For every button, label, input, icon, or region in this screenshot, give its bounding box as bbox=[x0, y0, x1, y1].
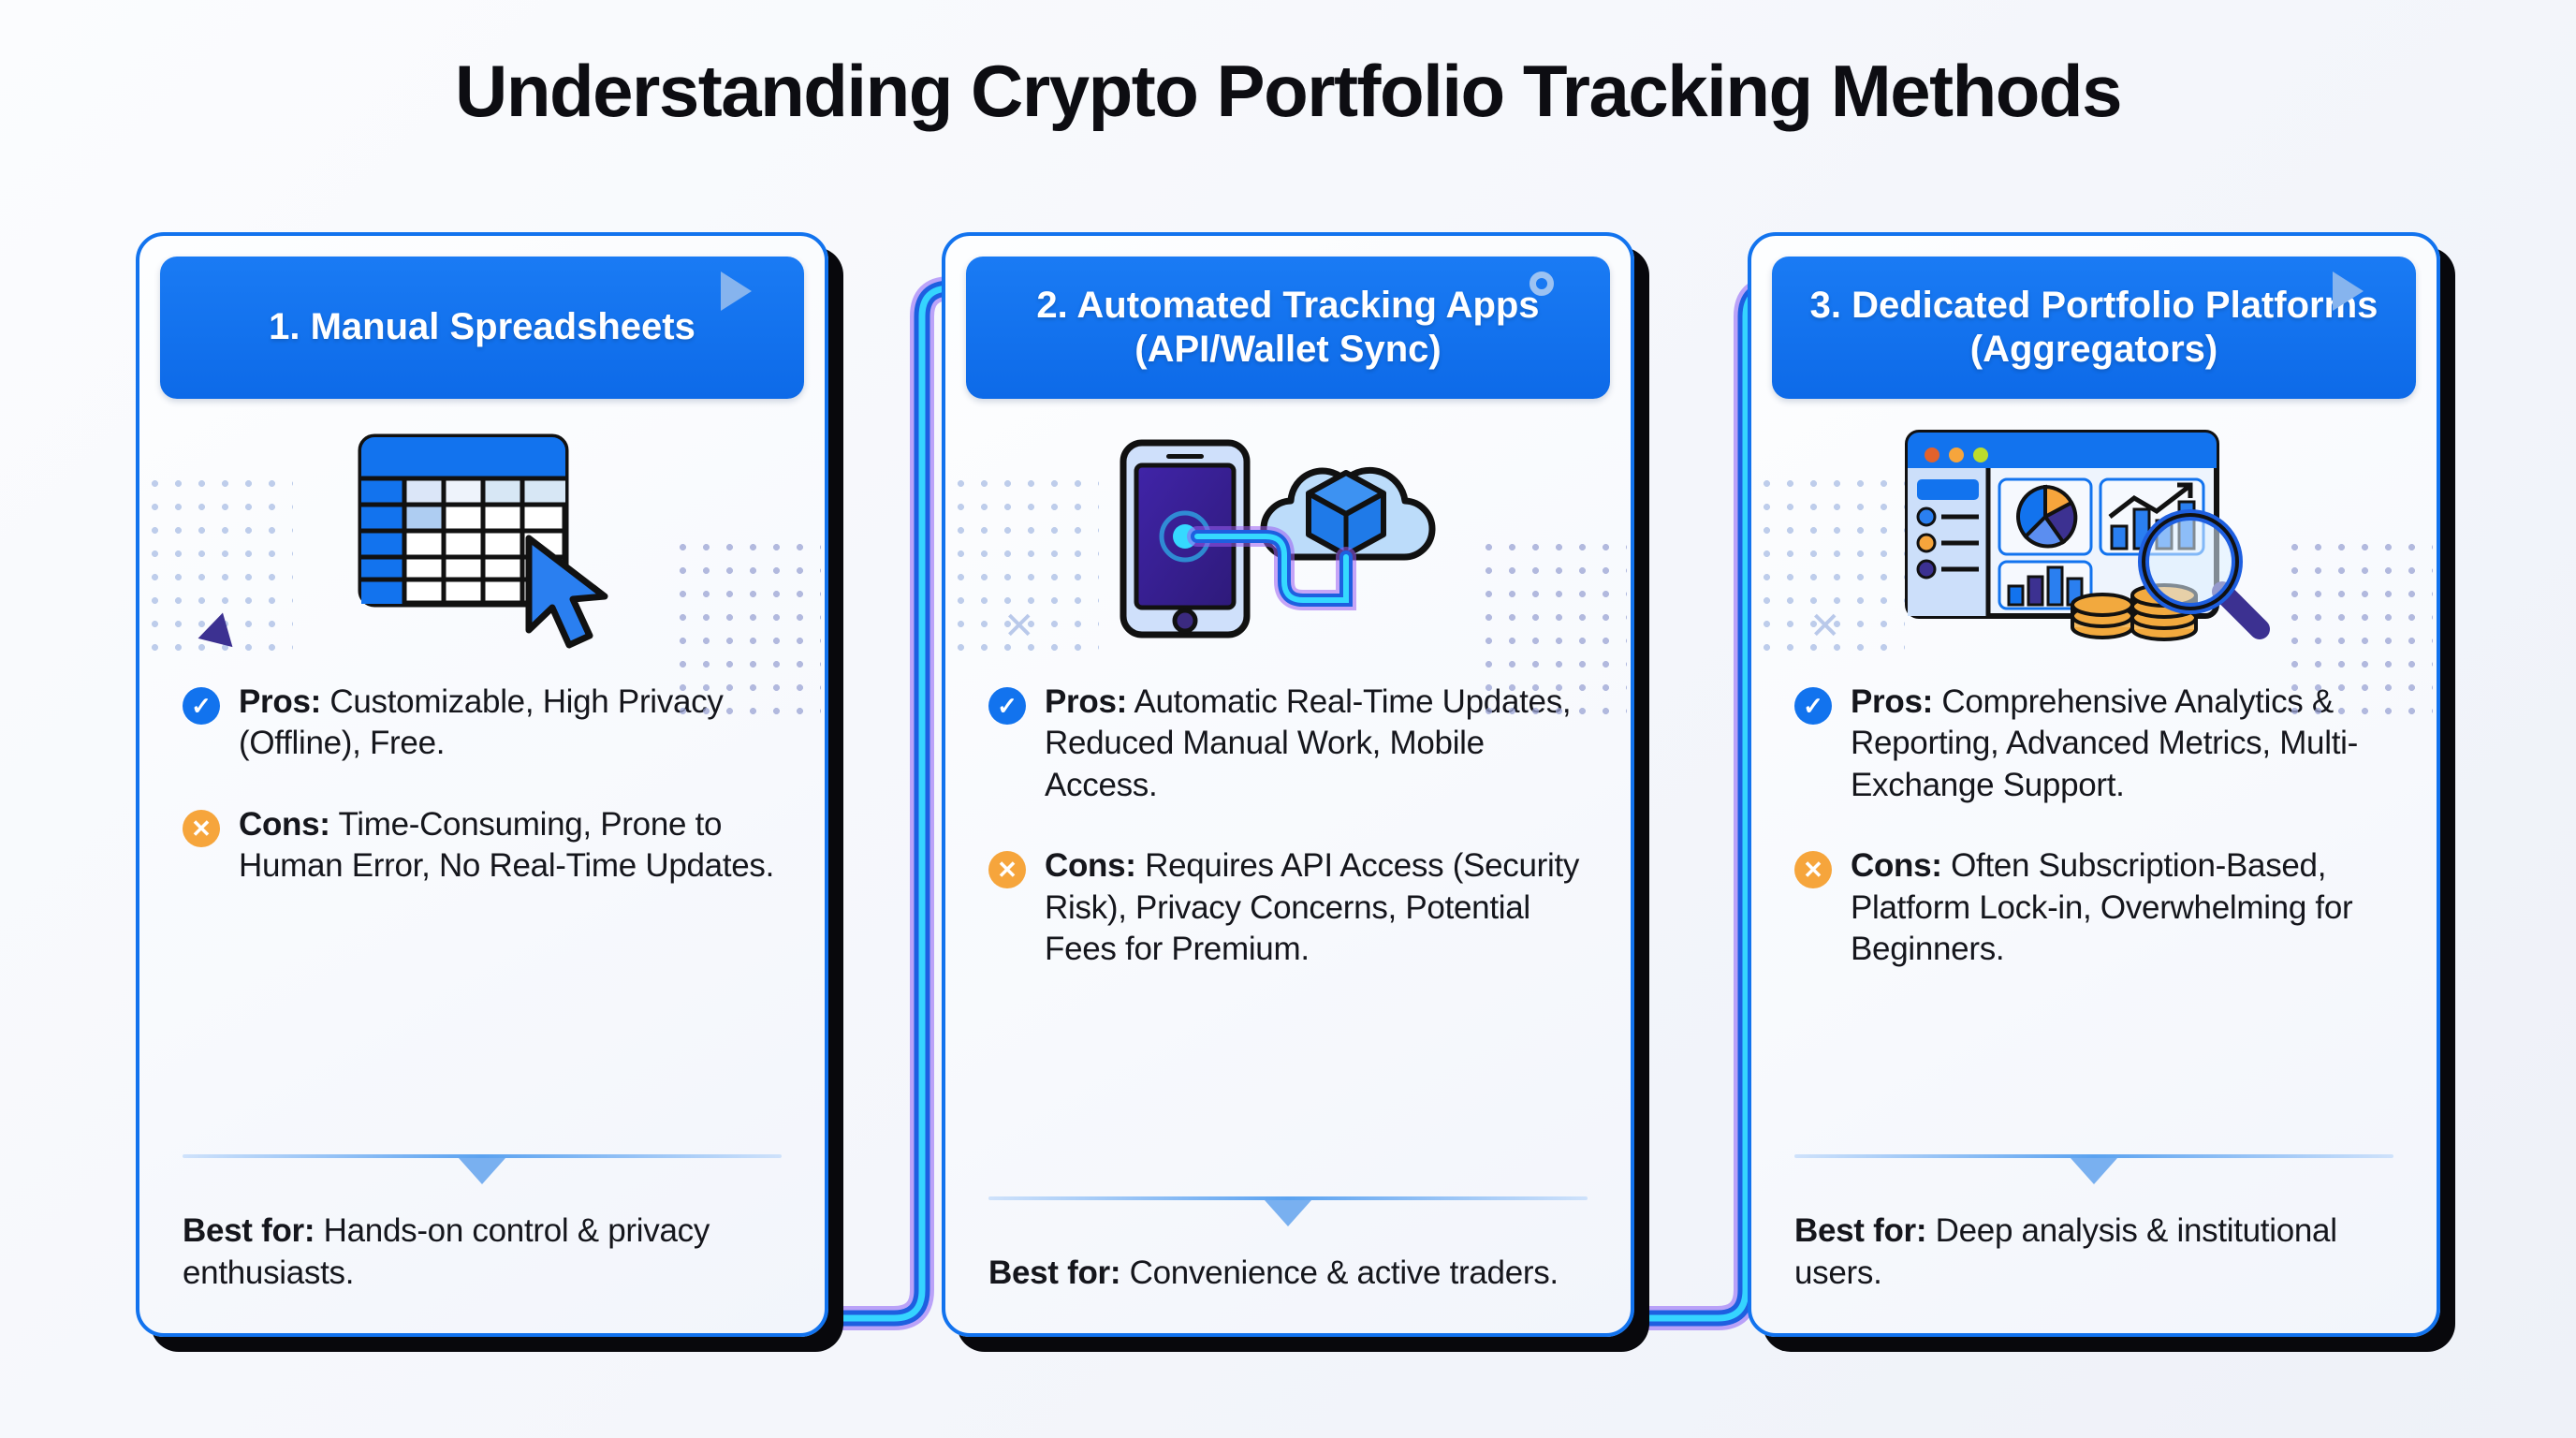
card2-illustration bbox=[945, 406, 1631, 661]
card1-cons: ✕ Cons: Time-Consuming, Prone to Human E… bbox=[183, 804, 782, 888]
card1-best-label: Best for: bbox=[183, 1212, 315, 1249]
card1-pros: ✓ Pros: Customizable, High Privacy (Offl… bbox=[183, 682, 782, 765]
card2-pros: ✓ Pros: Automatic Real-Time Updates, Red… bbox=[988, 682, 1588, 806]
card-dedicated-portfolio-platforms[interactable]: 3. Dedicated Portfolio Platforms (Aggreg… bbox=[1748, 232, 2440, 1337]
x-circle-icon: ✕ bbox=[988, 851, 1026, 888]
card2-cons: ✕ Cons: Requires API Access (Security Ri… bbox=[988, 845, 1588, 970]
card3-best-label: Best for: bbox=[1794, 1212, 1926, 1249]
card3-cons: ✕ Cons: Often Subscription-Based, Platfo… bbox=[1794, 845, 2393, 970]
card-automated-tracking-apps[interactable]: 2. Automated Tracking Apps (API/Wallet S… bbox=[942, 232, 1634, 1337]
card2-pros-label: Pros: bbox=[1045, 683, 1127, 720]
card3-header: 3. Dedicated Portfolio Platforms (Aggreg… bbox=[1772, 257, 2416, 399]
card1-pros-label: Pros: bbox=[239, 683, 321, 720]
card1-illustration bbox=[139, 406, 825, 661]
card3-pros: ✓ Pros: Comprehensive Analytics & Report… bbox=[1794, 682, 2393, 806]
caret-down-icon bbox=[459, 1158, 505, 1184]
check-circle-icon: ✓ bbox=[988, 687, 1026, 725]
card2-footer: Best for: Convenience & active traders. bbox=[988, 1196, 1588, 1294]
card3-illustration bbox=[1751, 406, 2437, 661]
card1-footer: Best for: Hands-on control & privacy ent… bbox=[183, 1154, 782, 1294]
card2-cons-label: Cons: bbox=[1045, 847, 1136, 884]
check-circle-icon: ✓ bbox=[1794, 687, 1832, 725]
x-circle-icon: ✕ bbox=[183, 810, 220, 847]
card1-header: 1. Manual Spreadsheets bbox=[160, 257, 804, 399]
method-cards-row: 1. Manual Spreadsheets bbox=[0, 232, 2576, 1384]
card-manual-spreadsheets[interactable]: 1. Manual Spreadsheets bbox=[136, 232, 828, 1337]
card3-footer: Best for: Deep analysis & institutional … bbox=[1794, 1154, 2393, 1294]
card2-body: ✓ Pros: Automatic Real-Time Updates, Red… bbox=[945, 661, 1631, 971]
card1-cons-label: Cons: bbox=[239, 806, 330, 843]
card3-body: ✓ Pros: Comprehensive Analytics & Report… bbox=[1751, 661, 2437, 971]
card2-best-text: Convenience & active traders. bbox=[1130, 1255, 1559, 1291]
card1-body: ✓ Pros: Customizable, High Privacy (Offl… bbox=[139, 661, 825, 888]
card2-best-label: Best for: bbox=[988, 1255, 1120, 1291]
card3-cons-label: Cons: bbox=[1851, 847, 1942, 884]
x-circle-icon: ✕ bbox=[1794, 851, 1832, 888]
card2-header: 2. Automated Tracking Apps (API/Wallet S… bbox=[966, 257, 1610, 399]
caret-down-icon bbox=[1265, 1200, 1311, 1226]
card3-pros-label: Pros: bbox=[1851, 683, 1933, 720]
caret-down-icon bbox=[2071, 1158, 2117, 1184]
check-circle-icon: ✓ bbox=[183, 687, 220, 725]
page-title: Understanding Crypto Portfolio Tracking … bbox=[0, 0, 2576, 127]
